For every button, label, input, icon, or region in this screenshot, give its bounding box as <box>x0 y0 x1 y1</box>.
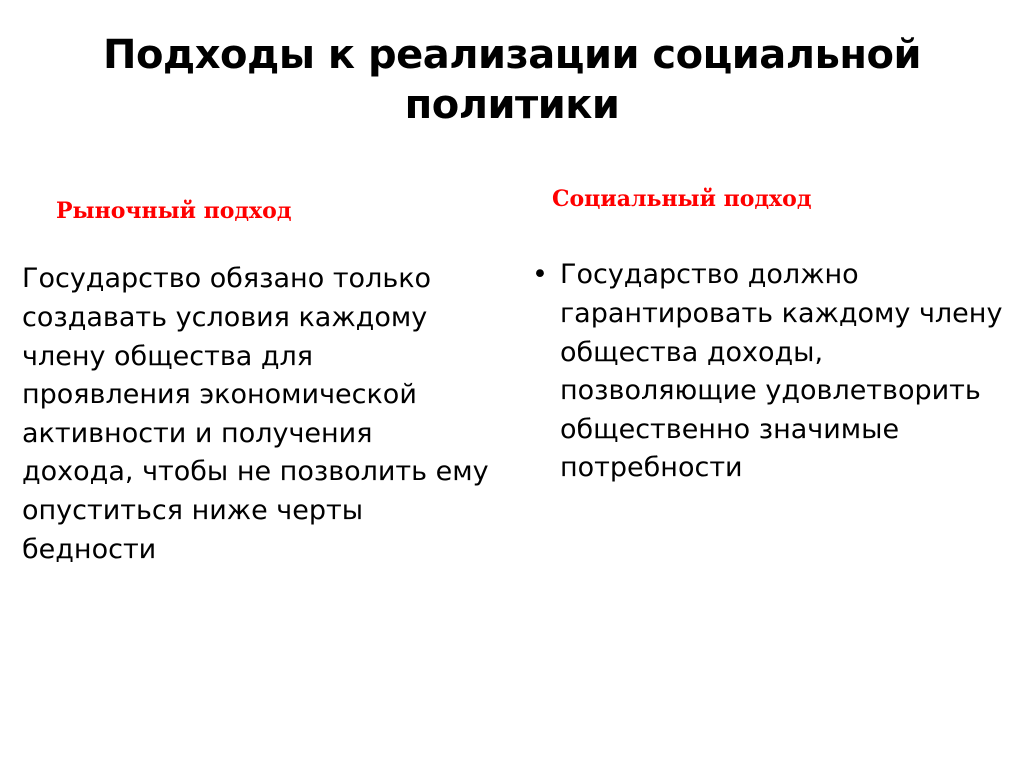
bullet-point-icon: • <box>532 256 560 488</box>
column-social-approach: Социальный подход • Государство должно г… <box>512 180 1024 569</box>
column-market-approach: Рыночный подход Государство обязано толь… <box>0 180 512 569</box>
bullet-list-item: • Государство должно гарантировать каждо… <box>532 212 1004 488</box>
content-columns: Рыночный подход Государство обязано толь… <box>0 180 1024 569</box>
slide: Подходы к реализации социальной политики… <box>0 0 1024 767</box>
column-body-market: Государство обязано только создавать усл… <box>22 224 502 569</box>
column-body-social: Государство должно гарантировать каждому… <box>560 256 1004 488</box>
column-heading-social: Социальный подход <box>532 180 1004 212</box>
column-heading-market: Рыночный подход <box>22 180 502 224</box>
page-title: Подходы к реализации социальной политики <box>60 30 964 130</box>
